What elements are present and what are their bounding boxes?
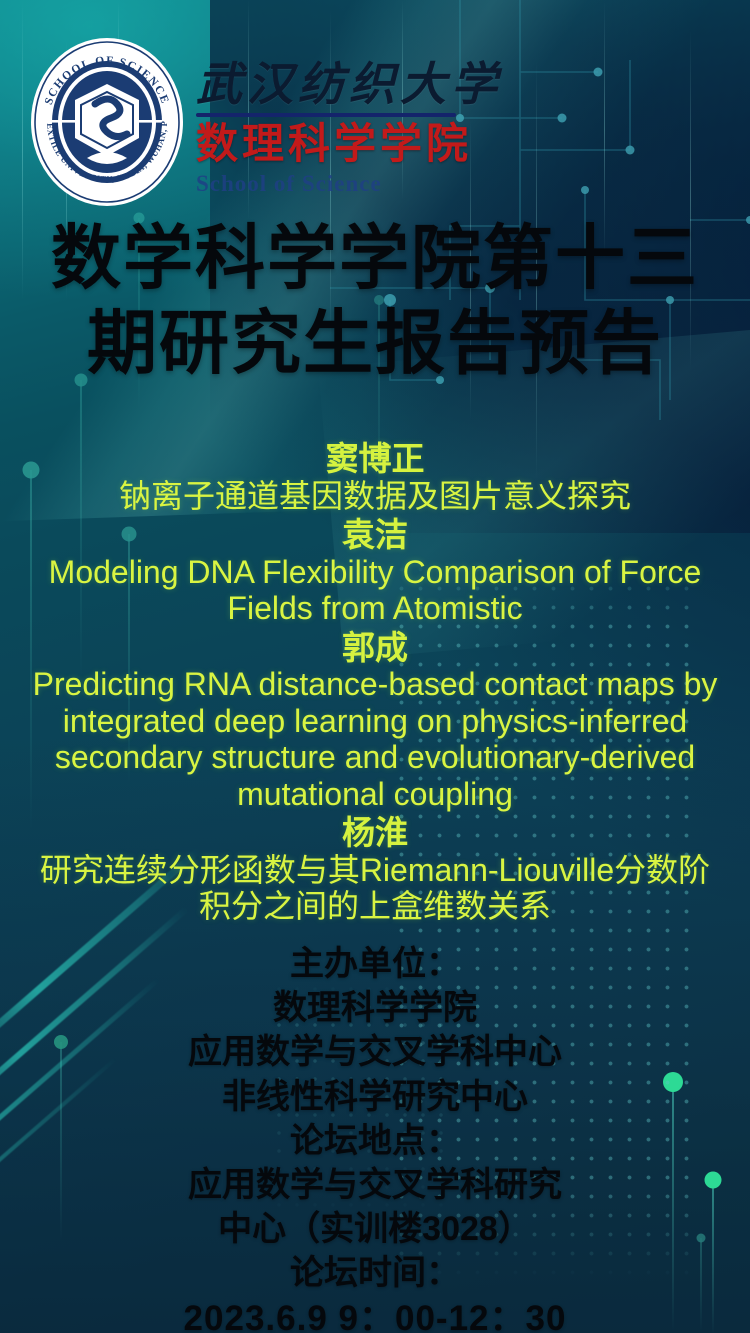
organizer-item: 非线性科学研究中心 (0, 1075, 750, 1119)
organizer-label: 主办单位： (0, 942, 750, 986)
event-datetime: 2023.6.9 9：00-12：30 (0, 1296, 750, 1333)
talk-speaker: 窦博正 (22, 440, 728, 478)
talks-list: 窦博正 钠离子通道基因数据及图片意义探究 袁洁 Modeling DNA Fle… (22, 440, 728, 927)
talk-speaker: 杨淮 (22, 814, 728, 852)
talk-item: 郭成 Predicting RNA distance-based contact… (22, 629, 728, 812)
talk-title: 研究连续分形函数与其Riemann-Liouville分数阶积分之间的上盒维数关… (22, 852, 728, 925)
talk-title: Modeling DNA Flexibility Comparison of F… (22, 554, 728, 627)
talk-item: 窦博正 钠离子通道基因数据及图片意义探究 (22, 440, 728, 514)
poster-root: SCHOOL OF SCIENCE WUHAN TEXTILE UNIVERSI… (0, 0, 750, 1333)
organizer-item: 应用数学与交叉学科中心 (0, 1030, 750, 1074)
university-name-cn: 武汉纺织大学 (196, 62, 526, 108)
brand-divider-rule (196, 113, 456, 117)
venue-line: 应用数学与交叉学科研究 (0, 1163, 750, 1207)
talk-title: Predicting RNA distance-based contact ma… (22, 666, 728, 812)
brand-wordmark: 武汉纺织大学 数理科学学院 School of Science (196, 62, 526, 195)
page-title: 数学科学学院第十三 期研究生报告预告 (0, 216, 750, 387)
title-line-1: 数学科学学院第十三 (0, 216, 750, 301)
talk-item: 袁洁 Modeling DNA Flexibility Comparison o… (22, 516, 728, 627)
event-info: 主办单位： 数理科学学院 应用数学与交叉学科中心 非线性科学研究中心 论坛地点：… (0, 942, 750, 1333)
talk-title: 钠离子通道基因数据及图片意义探究 (22, 478, 728, 514)
brand-header: SCHOOL OF SCIENCE WUHAN TEXTILE UNIVERSI… (0, 0, 750, 210)
university-seal-logo-icon: SCHOOL OF SCIENCE WUHAN TEXTILE UNIVERSI… (27, 30, 187, 208)
venue-label: 论坛地点： (0, 1119, 750, 1163)
time-label: 论坛时间： (0, 1251, 750, 1295)
venue-line: 中心（实训楼3028） (0, 1207, 750, 1251)
title-line-2: 期研究生报告预告 (0, 301, 750, 386)
college-name-cn: 数理科学学院 (196, 124, 526, 166)
talk-item: 杨淮 研究连续分形函数与其Riemann-Liouville分数阶积分之间的上盒… (22, 814, 728, 925)
talk-speaker: 郭成 (22, 629, 728, 667)
college-name-en: School of Science (196, 172, 526, 195)
organizer-item: 数理科学学院 (0, 986, 750, 1030)
talk-speaker: 袁洁 (22, 516, 728, 554)
